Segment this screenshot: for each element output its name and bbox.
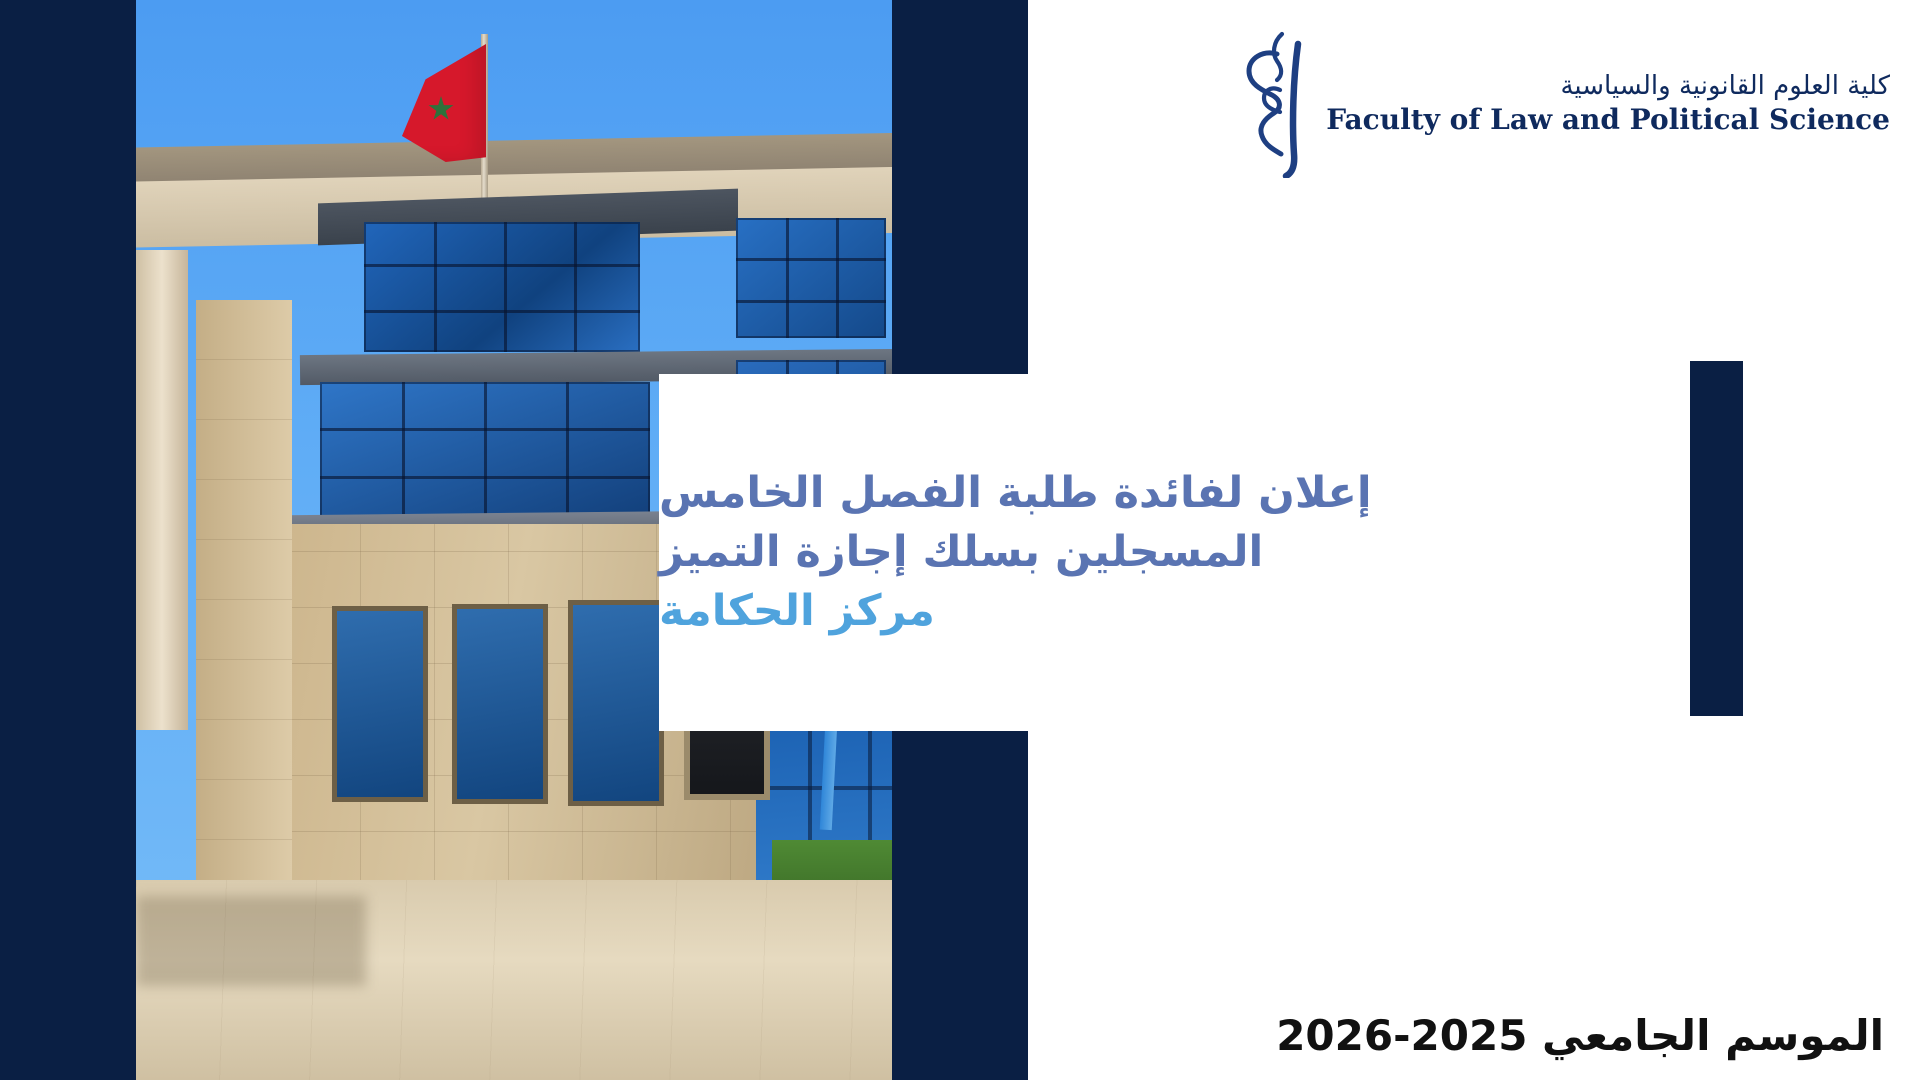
- faculty-emblem-icon: [1236, 28, 1312, 178]
- ground-shadow: [136, 896, 366, 986]
- faculty-logo-text: كلية العلوم القانونية والسياسية Faculty …: [1326, 71, 1890, 136]
- announcement-accent-line: مركز الحكامة: [659, 582, 935, 641]
- faculty-name-english: Faculty of Law and Political Science: [1326, 103, 1890, 136]
- glass-mullion-grid: [736, 218, 886, 338]
- poster-canvas: كلية العلوم القانونية والسياسية Faculty …: [0, 0, 1920, 1080]
- ground-window-1: [332, 606, 428, 802]
- academic-year-label: الموسم الجامعي 2025-2026: [1276, 1011, 1884, 1060]
- announcement-text-block: إعلان لفائدة طلبة الفصل الخامس المسجلين …: [659, 374, 1699, 731]
- entry-column: [136, 250, 188, 730]
- announcement-line-1: إعلان لفائدة طلبة الفصل الخامس: [659, 464, 1372, 523]
- faculty-logo: كلية العلوم القانونية والسياسية Faculty …: [1236, 28, 1890, 178]
- glass-mullion-grid: [364, 222, 640, 352]
- announcement-line-2: المسجلين بسلك إجازة التميز: [659, 523, 1263, 582]
- glass-panel-middle-left: [320, 382, 650, 522]
- ground-window-3: [568, 600, 664, 806]
- ground-window-2: [452, 604, 548, 804]
- navy-strip-left: [0, 0, 136, 1080]
- faculty-name-arabic: كلية العلوم القانونية والسياسية: [1560, 71, 1890, 101]
- glass-panel-upper-right: [736, 218, 886, 338]
- glass-mullion-grid: [320, 382, 650, 522]
- glass-panel-upper-left: [364, 222, 640, 352]
